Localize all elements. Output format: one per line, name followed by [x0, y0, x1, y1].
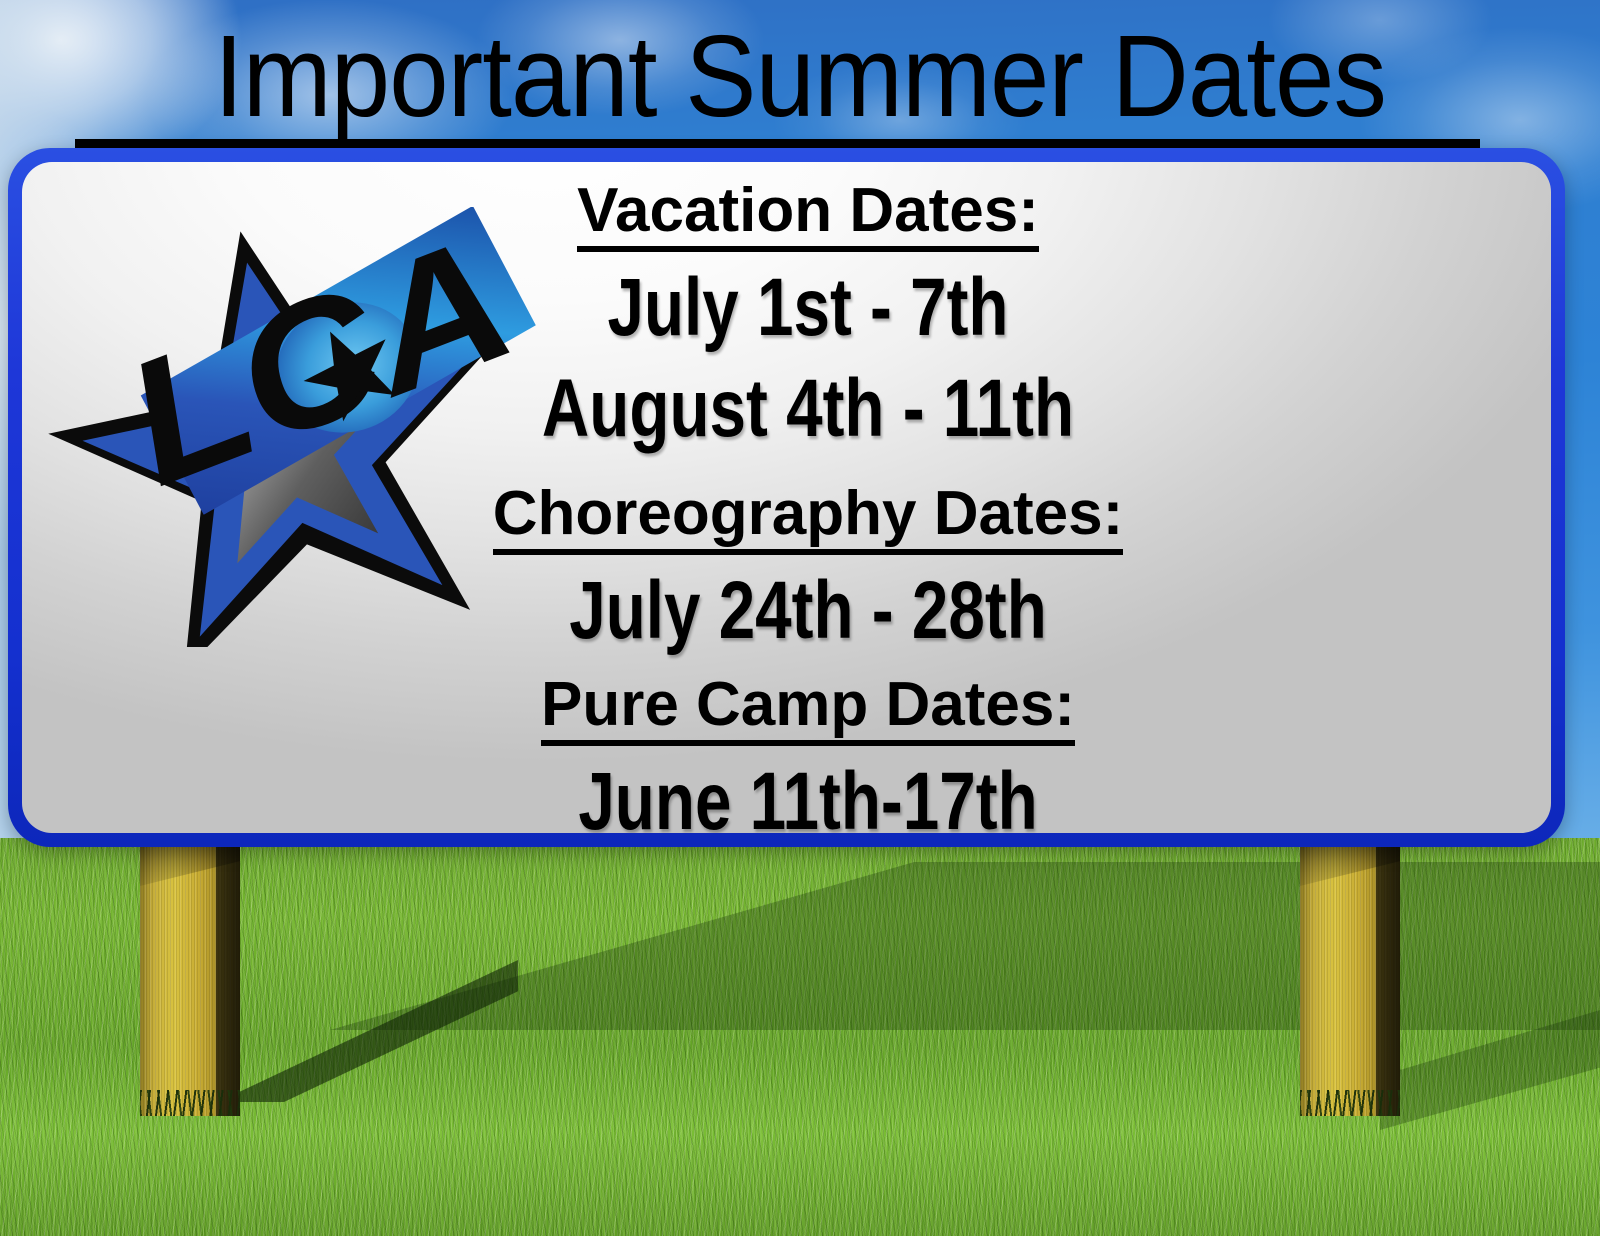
section-pure-camp: Pure Camp Dates:: [452, 672, 1164, 746]
sign-text-block: Vacation Dates: July 1st - 7th August 4t…: [452, 178, 1164, 833]
date-pure-camp-june: June 11th-17th: [523, 760, 1093, 833]
section-heading-choreography: Choreography Dates:: [493, 481, 1123, 555]
page-title: Important Summer Dates: [64, 18, 1536, 134]
sign-post-left-shade: [216, 840, 240, 1116]
sign-board: LCA Vacation Dates: July 1st - 7th Augus…: [8, 148, 1565, 847]
date-vacation-july: July 1st - 7th: [523, 266, 1093, 350]
section-heading-vacation: Vacation Dates:: [577, 178, 1039, 252]
date-vacation-august: August 4th - 11th: [523, 367, 1093, 451]
section-choreography: Choreography Dates:: [452, 481, 1164, 555]
page-title-underline: [75, 139, 1480, 148]
sign-post-left-grass-fringe: [140, 1090, 240, 1116]
date-choreography-july: July 24th - 28th: [523, 569, 1093, 653]
sign-post-right-shade: [1376, 840, 1400, 1116]
sign-post-right-grass-fringe: [1300, 1090, 1400, 1116]
section-heading-pure-camp: Pure Camp Dates:: [541, 672, 1075, 746]
sign-face: LCA Vacation Dates: July 1st - 7th Augus…: [22, 162, 1551, 833]
poster-canvas: Important Summer Dates: [0, 0, 1600, 1236]
section-vacation: Vacation Dates:: [452, 178, 1164, 252]
